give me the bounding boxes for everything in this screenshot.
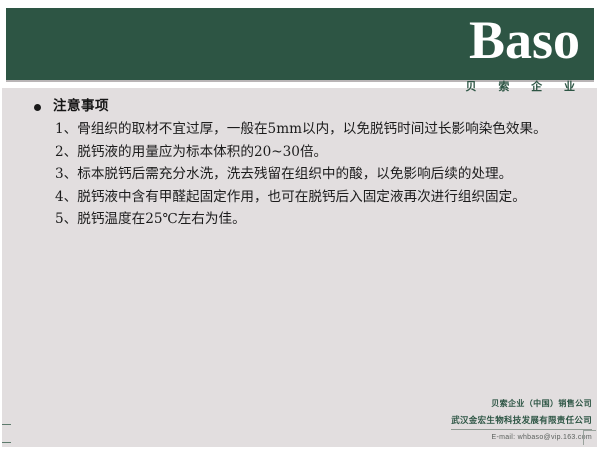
footer-company-full: 武汉金宏生物科技发展有限责任公司 [451,415,592,430]
baso-logo-text: Baso [469,4,580,76]
list-item: 4、脱钙液中含有甲醛起固定作用，也可在脱钙后入固定液再次进行组织固定。 [55,187,588,209]
baso-logo-subtitle: 贝 索 企 业 [466,78,585,94]
bullet-dot-icon [34,104,41,111]
header-banner: Baso [6,8,594,80]
heading-row: 注意事项 [0,96,600,116]
header-banner-area: Baso 贝 索 企 业 [0,0,600,88]
slide-content: 注意事项 1、骨组织的取材不宜过厚，一般在5mm以内，以免脱钙时间过长影响染色效… [0,96,600,232]
list-item: 2、脱钙液的用量应为标本体积的20~30倍。 [55,142,588,164]
list-item: 3、标本脱钙后需充分水洗，洗去残留在组织中的酸，以免影响后续的处理。 [55,164,588,186]
page-title: 注意事项 [53,96,109,116]
slide-edge-left [0,0,2,450]
list-item: 1、骨组织的取材不宜过厚，一般在5mm以内，以免脱钙时间过长影响染色效果。 [55,119,588,141]
corner-mark-right-icon [583,430,596,445]
list-item: 5、脱钙温度在25℃左右为佳。 [55,209,588,231]
notes-list: 1、骨组织的取材不宜过厚，一般在5mm以内，以免脱钙时间过长影响染色效果。 2、… [0,119,600,231]
footer-email: E-mail: whbaso@vip.163.com [292,432,592,444]
footer: 贝索企业（中国）销售公司 武汉金宏生物科技发展有限责任公司 E-mail: wh… [292,398,592,444]
slide: Baso 贝 索 企 业 注意事项 1、骨组织的取材不宜过厚，一般在5mm以内，… [0,0,600,450]
footer-company-sales: 贝索企业（中国）销售公司 [292,398,592,410]
